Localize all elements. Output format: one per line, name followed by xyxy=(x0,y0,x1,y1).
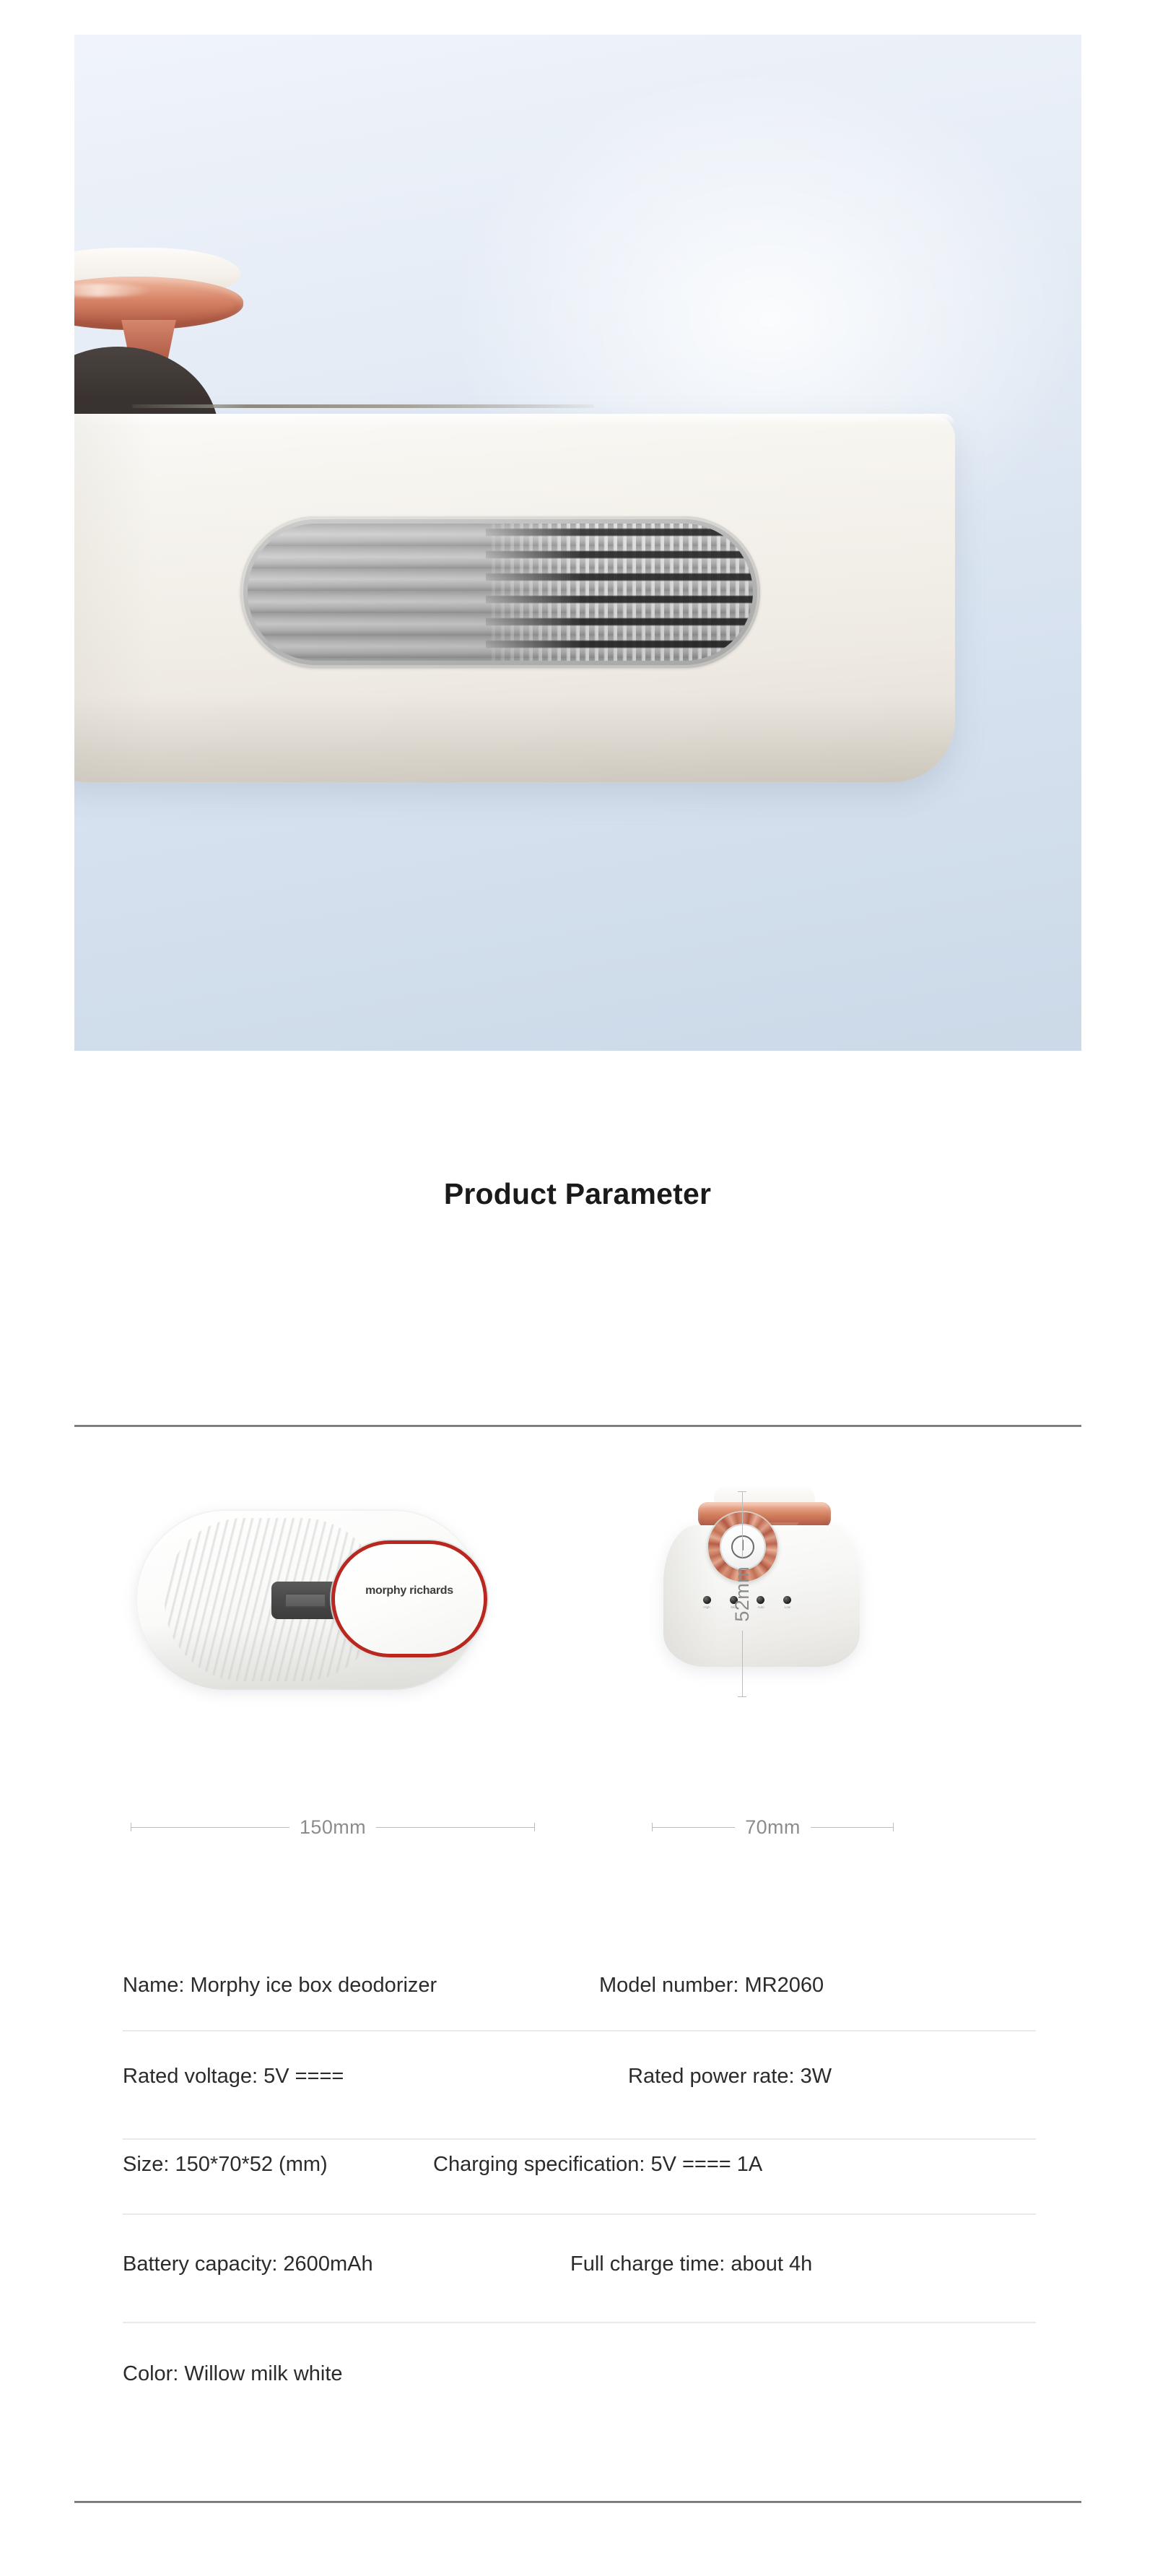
spec-rated-voltage: Rated voltage: 5V ==== xyxy=(123,2063,628,2089)
spec-charging-specification: Charging specification: 5V ==== 1A xyxy=(433,2151,1036,2177)
body-bottom-shading xyxy=(74,695,955,782)
product-body xyxy=(74,414,955,782)
red-rimmed-cap: morphy richards xyxy=(335,1544,484,1654)
led-label: Low xyxy=(780,1606,796,1610)
dimension-height-label: 52mm xyxy=(731,1566,754,1622)
dimension-height-callout: 52mm xyxy=(720,1491,764,1697)
table-row: Name: Morphy ice box deodorizer Model nu… xyxy=(123,1968,1036,2031)
divider-top xyxy=(74,1425,1081,1427)
usb-port-slot xyxy=(284,1593,326,1608)
spec-full-charge-time: Full charge time: about 4h xyxy=(570,2251,1036,2277)
product-top-view: morphy richards xyxy=(136,1509,482,1690)
spec-size: Size: 150*70*52 (mm) xyxy=(123,2151,433,2177)
led-indicator: High xyxy=(698,1596,715,1610)
table-row: Color: Willow milk white xyxy=(123,2323,1036,2432)
spec-name: Name: Morphy ice box deodorizer xyxy=(123,1972,599,1998)
lid-metal-lip xyxy=(132,404,594,408)
led-dot-icon xyxy=(703,1596,711,1604)
dimension-line-left xyxy=(652,1827,735,1828)
table-row: Size: 150*70*52 (mm) Charging specificat… xyxy=(123,2140,1036,2215)
page-title: Product Parameter xyxy=(0,1177,1155,1211)
grille-gloss xyxy=(240,516,760,668)
hero-product-photo xyxy=(74,35,1081,1051)
ventilation-grille xyxy=(240,516,760,668)
spec-color: Color: Willow milk white xyxy=(123,2361,599,2387)
led-dot-icon xyxy=(783,1596,791,1604)
divider-bottom xyxy=(74,2501,1081,2503)
body-top-highlight xyxy=(74,414,955,425)
dimension-line-upper xyxy=(742,1491,743,1558)
dimension-line-left xyxy=(131,1827,289,1828)
led-indicator: Low xyxy=(779,1596,796,1610)
specification-table: Name: Morphy ice box deodorizer Model nu… xyxy=(123,1968,1036,2432)
dimension-line-lower xyxy=(742,1631,743,1697)
dimension-width-label-70: 70mm xyxy=(745,1816,801,1839)
spec-battery-capacity: Battery capacity: 2600mAh xyxy=(123,2251,570,2277)
dimension-width-label-150: 150mm xyxy=(300,1816,366,1839)
dimension-width-callout-150: 150mm xyxy=(131,1816,535,1839)
led-label: High xyxy=(699,1606,715,1610)
brand-logo-text: morphy richards xyxy=(335,1584,484,1597)
spec-rated-power: Rated power rate: 3W xyxy=(628,2063,1036,2089)
dimension-line-right xyxy=(811,1827,894,1828)
dimension-diagram: morphy richards High Mid Auto xyxy=(74,1459,1081,1878)
dimension-line-right xyxy=(376,1827,535,1828)
dimension-width-callout-70: 70mm xyxy=(652,1816,894,1839)
table-row: Battery capacity: 2600mAh Full charge ti… xyxy=(123,2215,1036,2323)
table-row: Rated voltage: 5V ==== Rated power rate:… xyxy=(123,2031,1036,2140)
spec-model-number: Model number: MR2060 xyxy=(599,1972,1036,1998)
